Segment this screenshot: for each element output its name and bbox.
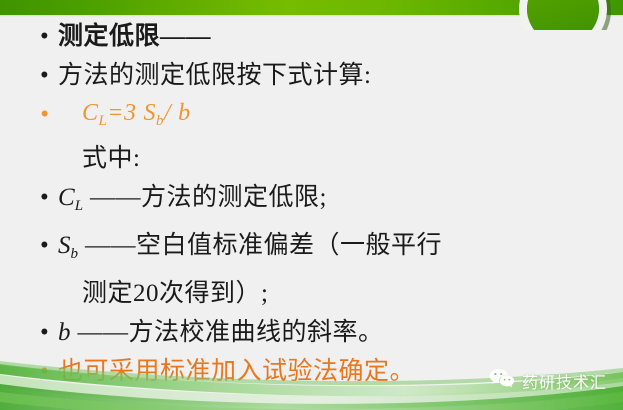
wechat-icon [489,368,515,393]
slide-content: • 测定低限—— • 方法的测定低限按下式计算: • CL=3Sb/b 式中: … [0,17,623,367]
term-sb-subscript: b [71,246,79,262]
term-cl-subscript: L [75,198,83,214]
bullet-line-cl: • CL——方法的测定低限; [0,178,623,226]
formula-s-subscript: b [156,113,164,129]
formula-equals: =3 [107,100,136,126]
line-sb-continuation: 测定20次得到）; [0,274,623,313]
term-cl-desc: ——方法的测定低限; [90,178,327,217]
formula-s-symbol: S [144,100,157,126]
bullet-icon: • [40,178,49,217]
bullet-line-b: • b——方法校准曲线的斜率。 [0,313,623,352]
formula-divider: / [164,100,171,126]
formula-b-symbol: b [178,100,191,126]
formula-expression: CL=3Sb/b [82,95,191,139]
term-sb-continuation-text: 测定20次得到）; [82,274,268,313]
bullet-icon: • [40,56,49,95]
term-cl-letter: C [58,184,75,211]
formula-c-subscript: L [99,113,108,129]
header-band [0,0,623,15]
bullet-icon: • [40,226,49,265]
title-text: 测定低限—— [58,17,211,56]
bullet-icon: • [40,95,49,134]
term-sb-desc: ——空白值标准偏差（一般平行 [85,226,442,265]
note-text: 也可采用标准加入试验法确定。 [58,352,415,391]
bullet-line-title: • 测定低限—— [0,17,623,56]
bullet-icon: • [40,352,49,391]
watermark: 药研技术汇 [489,368,607,393]
bullet-icon: • [40,313,49,352]
term-sb-symbol: Sb [58,226,78,274]
term-cl-symbol: CL [58,178,83,226]
watermark-text: 药研技术汇 [522,369,607,393]
where-label: 式中: [82,139,140,178]
bullet-icon: • [40,17,49,56]
term-b-symbol: b [58,313,71,352]
formula-c-symbol: C [82,100,99,126]
intro-text: 方法的测定低限按下式计算: [58,56,371,95]
bullet-line-intro: • 方法的测定低限按下式计算: [0,56,623,95]
bullet-line-sb: • Sb——空白值标准偏差（一般平行 [0,226,623,274]
bullet-line-formula: • CL=3Sb/b [0,95,623,139]
term-sb-letter: S [58,232,71,259]
line-where-label: 式中: [0,139,623,178]
slide-canvas: • 测定低限—— • 方法的测定低限按下式计算: • CL=3Sb/b 式中: … [0,0,623,410]
term-b-desc: ——方法校准曲线的斜率。 [78,313,384,352]
